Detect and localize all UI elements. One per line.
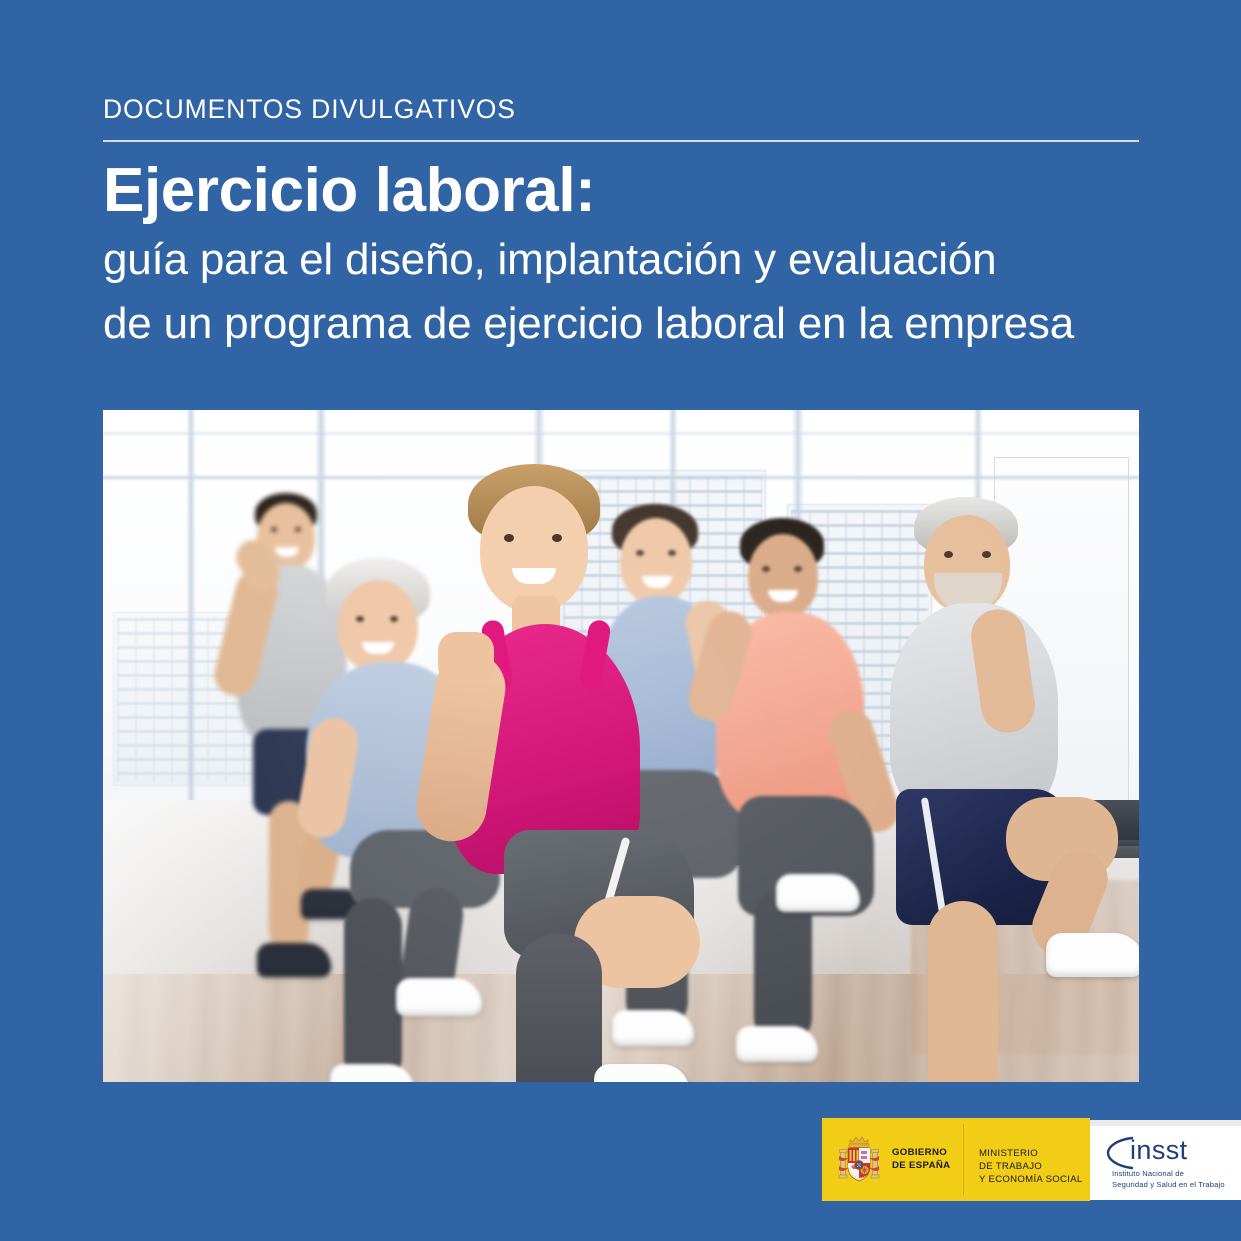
cover-photo	[103, 410, 1139, 1082]
subtitle-line-1: guía para el diseño, implantación y eval…	[103, 231, 1163, 289]
insst-logo: insst Instituto Nacional de Seguridad y …	[1090, 1120, 1241, 1200]
fist	[438, 632, 494, 684]
shoe-standing	[736, 1026, 818, 1062]
government-of-spain-logo: GOBIERNO DE ESPAÑA MINISTERIO DE TRABAJO…	[822, 1118, 1090, 1201]
person-senior-man-right	[890, 497, 1139, 1082]
de-espana-line: DE ESPAÑA	[892, 1160, 950, 1173]
shoe-raised	[1046, 933, 1139, 977]
insst-subtitle: Instituto Nacional de Seguridad y Salud …	[1112, 1169, 1225, 1191]
leg-standing	[928, 901, 998, 1082]
shoe-raised	[776, 874, 860, 912]
eye-right	[794, 566, 802, 572]
head	[338, 580, 418, 672]
leg-standing	[754, 890, 812, 1046]
leg-standing-legging	[516, 934, 602, 1082]
shoe-standing	[330, 1064, 414, 1082]
insst-sub-line-2: Seguridad y Salud en el Trabajo	[1112, 1180, 1225, 1191]
eye-left	[356, 616, 364, 622]
eye-right	[295, 527, 301, 532]
insst-top-band	[1090, 1120, 1241, 1126]
collection-label: DOCUMENTOS DIVULGATIVOS	[103, 96, 516, 123]
eye-right	[552, 534, 562, 542]
document-cover: DOCUMENTOS DIVULGATIVOS Ejercicio labora…	[0, 0, 1241, 1241]
spain-coat-of-arms-icon	[838, 1134, 880, 1186]
eye-left	[271, 527, 277, 532]
head	[480, 486, 588, 612]
eye-right	[390, 616, 398, 622]
ministry-line-3: Y ECONOMÍA SOCIAL	[979, 1174, 1083, 1187]
insst-wordmark: insst	[1130, 1137, 1188, 1164]
ministry-line-2: DE TRABAJO	[979, 1161, 1083, 1174]
subtitle-line-2: de un programa de ejercicio laboral en l…	[103, 295, 1163, 353]
head	[748, 534, 818, 618]
photo-scene	[103, 410, 1139, 1082]
window-mullion-1	[186, 410, 196, 827]
page-title: Ejercicio laboral:	[103, 158, 1163, 225]
pants-standing-leg	[344, 898, 402, 1082]
header-divider	[103, 140, 1139, 142]
insst-sub-line-1: Instituto Nacional de	[1112, 1169, 1225, 1180]
title-block: Ejercicio laboral: guía para el diseño, …	[103, 158, 1163, 353]
ministry-wordmark: MINISTERIO DE TRABAJO Y ECONOMÍA SOCIAL	[979, 1148, 1083, 1187]
ministry-line-1: MINISTERIO	[979, 1148, 1083, 1161]
logo-divider	[963, 1124, 964, 1195]
person-woman-pink-front	[424, 464, 735, 1082]
gobierno-line: GOBIERNO	[892, 1147, 950, 1160]
eye-left	[504, 534, 514, 542]
window-transom-2	[103, 430, 1139, 437]
government-wordmark: GOBIERNO DE ESPAÑA	[892, 1147, 950, 1172]
shoe-front	[594, 1064, 690, 1082]
eye-left	[762, 566, 770, 572]
